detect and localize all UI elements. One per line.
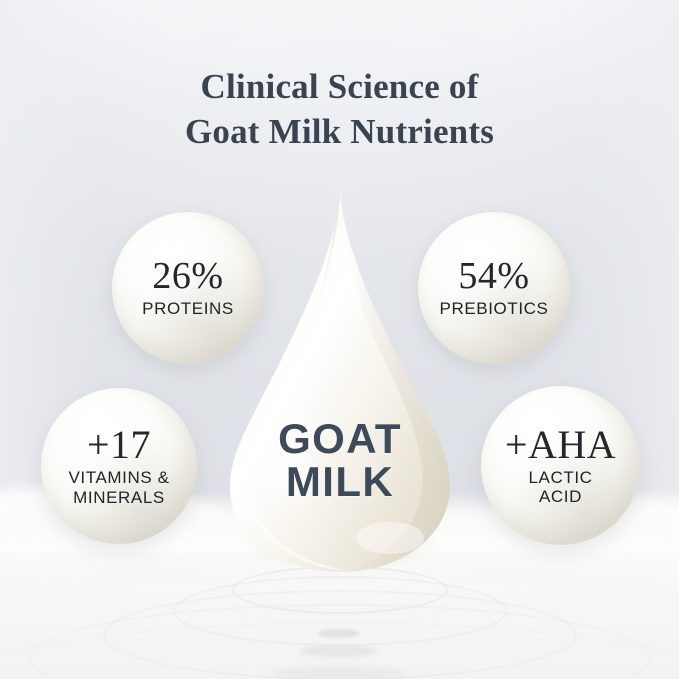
stat-bubble-vitamins-minerals: +17 VITAMINS & MINERALS bbox=[41, 388, 197, 544]
stat-value-aha: +AHA bbox=[505, 425, 616, 465]
page-title: Clinical Science of Goat Milk Nutrients bbox=[0, 65, 679, 155]
stat-label-aha-line-2: ACID bbox=[505, 487, 616, 506]
stat-value-prebiotics: 54% bbox=[440, 257, 549, 295]
milk-ripple-dot-3 bbox=[272, 666, 404, 679]
milk-ripple-dot-2 bbox=[300, 645, 378, 657]
droplet-base-caustic bbox=[356, 522, 424, 554]
page-title-line-2: Goat Milk Nutrients bbox=[0, 110, 679, 155]
stat-label-proteins: PROTEINS bbox=[142, 299, 234, 318]
stat-bubble-aha-content: +AHA LACTIC ACID bbox=[505, 425, 616, 506]
stat-value-vitamins-minerals: +17 bbox=[68, 425, 169, 465]
stat-label-aha: LACTIC ACID bbox=[505, 468, 616, 506]
stat-label-vitamins-minerals-line-1: VITAMINS & bbox=[68, 468, 169, 487]
stat-label-vitamins-minerals: VITAMINS & MINERALS bbox=[68, 468, 169, 506]
milk-droplet-icon bbox=[222, 186, 458, 576]
stat-value-proteins: 26% bbox=[142, 257, 234, 295]
milk-droplet: GOAT MILK bbox=[222, 186, 458, 576]
goat-milk-infographic-poster: Clinical Science of Goat Milk Nutrients bbox=[0, 0, 679, 679]
page-title-line-1: Clinical Science of bbox=[0, 65, 679, 110]
stat-label-proteins-line-1: PROTEINS bbox=[142, 299, 234, 318]
stat-label-vitamins-minerals-line-2: MINERALS bbox=[68, 488, 169, 507]
stat-bubble-prebiotics: 54% PREBIOTICS bbox=[418, 212, 570, 364]
droplet-label-line-2: MILK bbox=[222, 461, 458, 504]
stat-bubble-proteins: 26% PROTEINS bbox=[112, 212, 264, 364]
droplet-label-line-1: GOAT bbox=[222, 418, 458, 461]
stat-bubble-prebiotics-content: 54% PREBIOTICS bbox=[440, 257, 549, 318]
stat-bubble-vitamins-minerals-content: +17 VITAMINS & MINERALS bbox=[68, 425, 169, 506]
milk-ripple-dot-1 bbox=[318, 629, 360, 638]
stat-bubble-proteins-content: 26% PROTEINS bbox=[142, 257, 234, 318]
stat-label-prebiotics-line-1: PREBIOTICS bbox=[440, 299, 549, 318]
stat-label-prebiotics: PREBIOTICS bbox=[440, 299, 549, 318]
stat-label-aha-line-1: LACTIC bbox=[505, 468, 616, 487]
droplet-label: GOAT MILK bbox=[222, 418, 458, 504]
stat-bubble-aha: +AHA LACTIC ACID bbox=[481, 386, 640, 545]
